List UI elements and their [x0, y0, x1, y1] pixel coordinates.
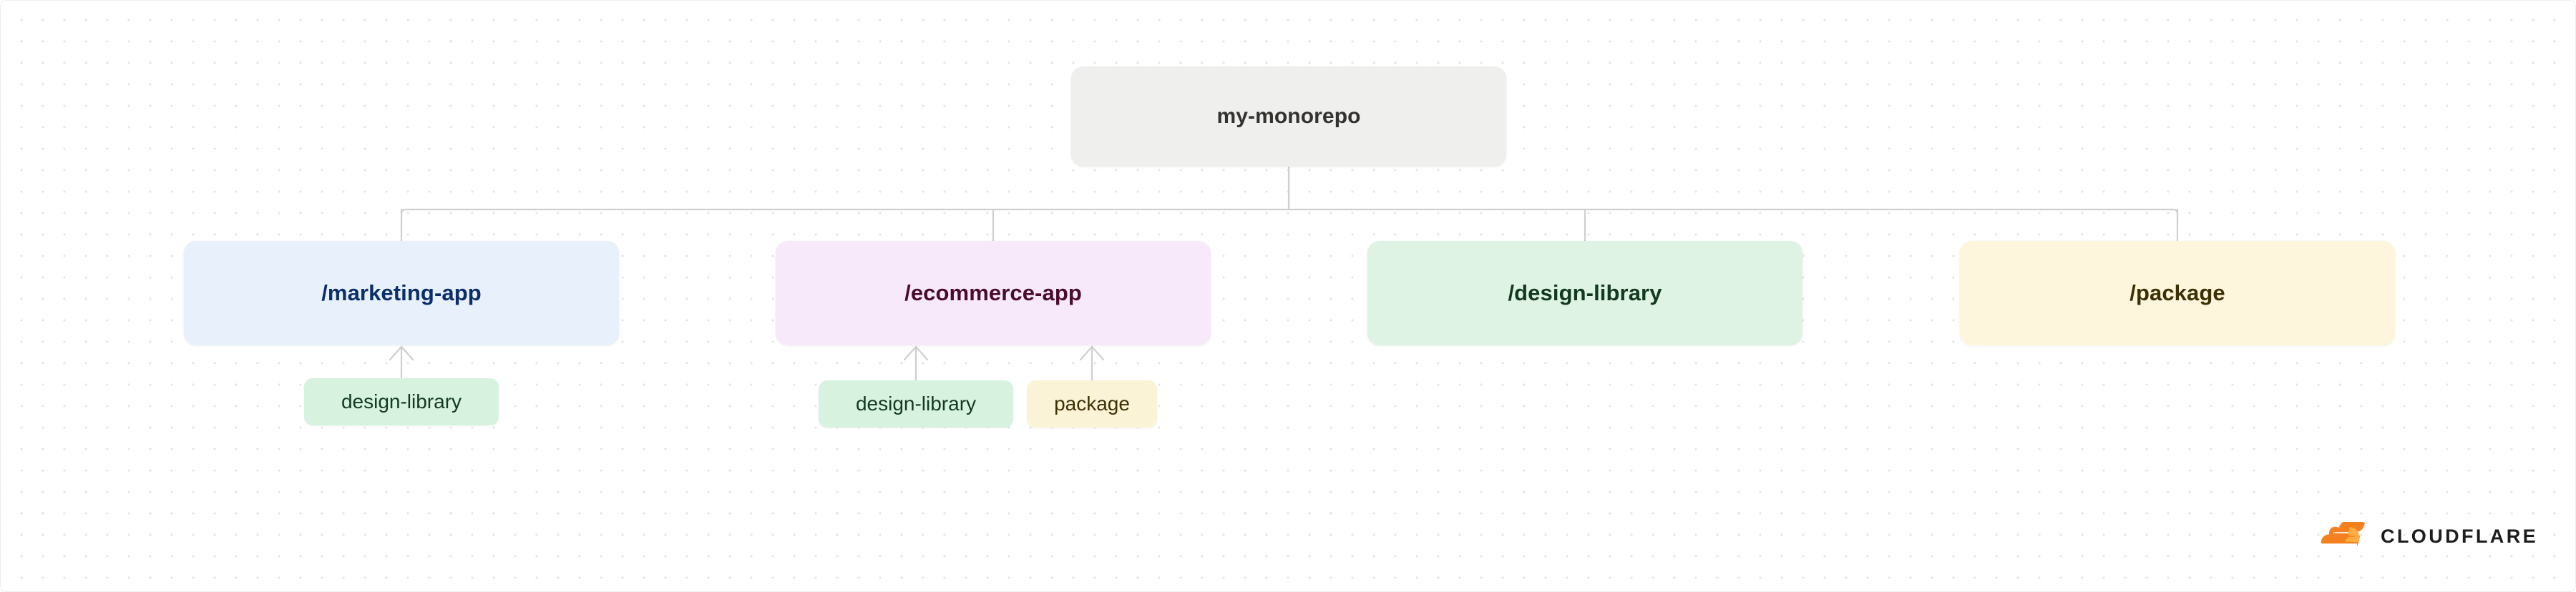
dep-arrowhead-marketing-design-library — [390, 347, 413, 360]
dep-arrowhead-ecommerce-design-library — [904, 347, 927, 360]
node-label: /package — [2129, 280, 2225, 306]
node-ecommerce-app[interactable]: /ecommerce-app — [776, 241, 1211, 345]
dependency-chip-ecommerce-package[interactable]: package — [1027, 380, 1157, 428]
node-my-monorepo[interactable]: my-monorepo — [1071, 66, 1506, 167]
node-label: /marketing-app — [321, 280, 482, 306]
node-label: my-monorepo — [1216, 104, 1360, 129]
dependency-chip-label: package — [1054, 393, 1130, 415]
dependency-chip-label: design-library — [341, 390, 462, 413]
cloudflare-logo: CLOUDFLARE — [2318, 522, 2538, 550]
node-design-library[interactable]: /design-library — [1367, 241, 1802, 345]
dependency-chip-label: design-library — [856, 393, 976, 415]
node-label: /ecommerce-app — [904, 280, 1082, 306]
dependency-chip-marketing-design-library[interactable]: design-library — [304, 378, 499, 425]
connector-bus — [401, 209, 2177, 217]
node-package[interactable]: /package — [1960, 241, 2395, 345]
dep-arrowhead-ecommerce-package — [1080, 347, 1103, 360]
diagram-canvas: my-monorepo /marketing-app /ecommerce-ap… — [0, 0, 2576, 592]
dependency-chip-ecommerce-design-library[interactable]: design-library — [819, 380, 1013, 428]
node-marketing-app[interactable]: /marketing-app — [184, 241, 619, 345]
cloudflare-cloud-icon — [2318, 522, 2371, 550]
cloudflare-wordmark: CLOUDFLARE — [2381, 526, 2538, 546]
node-label: /design-library — [1508, 280, 1662, 306]
